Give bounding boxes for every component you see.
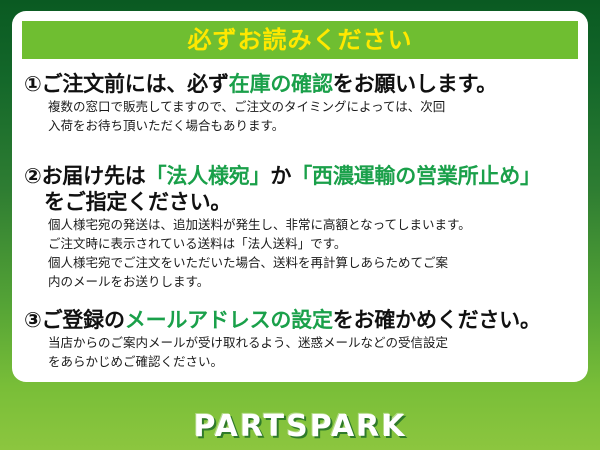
notice-body-line: ご注文時に表示されている送料は「法人送料」です。 bbox=[24, 234, 584, 253]
heading-text: をお願いします。 bbox=[333, 72, 497, 96]
notice-item-3: ③ご登録のメールアドレスの設定をお確かめください。当店からのご案内メールが受け取… bbox=[24, 307, 584, 371]
page-title: 必ずお読みください bbox=[188, 28, 413, 52]
brand-logo: PARTSPARK bbox=[193, 409, 406, 444]
notice-heading-line: ②お届け先は「法人様宛」か「西濃運輸の営業所止め」 bbox=[24, 163, 584, 189]
notice-body-line: 個人様宅宛でご注文をいただいた場合、送料を再計算しあらためてご案 bbox=[24, 253, 584, 272]
notice-heading-line: をご指定ください。 bbox=[24, 189, 584, 215]
highlight-text: メールアドレスの設定 bbox=[125, 308, 333, 332]
notice-item-1: ①ご注文前には、必ず在庫の確認をお願いします。複数の窓口で販売してますので、ご注… bbox=[24, 71, 584, 135]
highlight-text: 「法人様宛」 bbox=[146, 164, 271, 188]
heading-text: をご指定ください。 bbox=[44, 190, 231, 214]
header-bar: 必ずお読みください bbox=[22, 21, 578, 59]
notice-body-line: をあらかじめご確認ください。 bbox=[24, 352, 584, 371]
heading-text: ②お届け先は bbox=[24, 164, 146, 188]
notice-panel: 必ずお読みください ①ご注文前には、必ず在庫の確認をお願いします。複数の窓口で販… bbox=[12, 11, 588, 382]
notice-banner: 必ずお読みください ①ご注文前には、必ず在庫の確認をお願いします。複数の窓口で販… bbox=[0, 0, 600, 450]
notice-body-line: 当店からのご案内メールが受け取れるよう、迷惑メールなどの受信設定 bbox=[24, 333, 584, 352]
notice-heading-line: ①ご注文前には、必ず在庫の確認をお願いします。 bbox=[24, 71, 584, 97]
highlight-text: 在庫の確認 bbox=[229, 72, 333, 96]
heading-text: をお確かめください。 bbox=[333, 308, 541, 332]
notice-body-line: 入荷をお待ち頂いただく場合もあります。 bbox=[24, 116, 584, 135]
notice-body-line: 内のメールをお送りします。 bbox=[24, 272, 584, 291]
notice-item-2: ②お届け先は「法人様宛」か「西濃運輸の営業所止め」をご指定ください。個人様宅宛の… bbox=[24, 163, 584, 291]
footer-bar: PARTSPARK bbox=[0, 402, 600, 450]
heading-text: ①ご注文前には、必ず bbox=[24, 72, 229, 96]
highlight-text: 「西濃運輸の営業所止め」 bbox=[291, 164, 541, 188]
heading-text: か bbox=[270, 164, 291, 188]
notice-heading-line: ③ご登録のメールアドレスの設定をお確かめください。 bbox=[24, 307, 584, 333]
heading-text: ③ご登録の bbox=[24, 308, 125, 332]
notice-body-line: 複数の窓口で販売してますので、ご注文のタイミングによっては、次回 bbox=[24, 97, 584, 116]
notice-body-line: 個人様宅宛の発送は、追加送料が発生し、非常に高額となってしまいます。 bbox=[24, 215, 584, 234]
